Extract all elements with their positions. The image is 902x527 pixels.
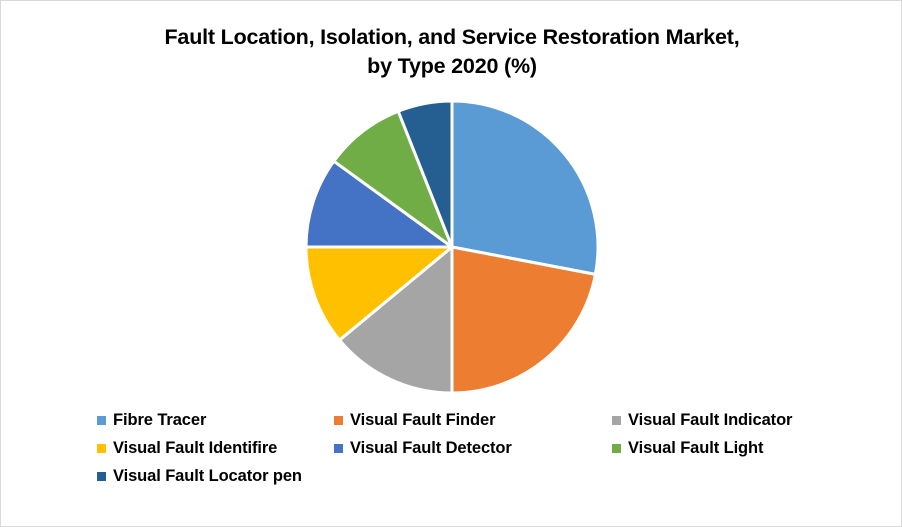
legend-item-label: Visual Fault Indicator [628,411,792,430]
legend-item-label: Visual Fault Detector [350,439,512,458]
legend-item-visual-fault-finder[interactable]: Visual Fault Finder [334,411,612,430]
legend-item-label: Visual Fault Locator pen [113,467,302,486]
legend-row: Fibre Tracer Visual Fault Finder Visual … [97,411,857,430]
pie-chart-graphic [302,97,602,397]
legend-item-label: Visual Fault Light [628,439,763,458]
legend-swatch-icon [612,444,621,453]
chart-title-line-1: Fault Location, Isolation, and Service R… [61,23,843,52]
legend-item-visual-fault-identifire[interactable]: Visual Fault Identifire [97,439,334,458]
legend-item-label: Fibre Tracer [113,411,206,430]
legend-swatch-icon [97,444,106,453]
legend-item-label: Visual Fault Finder [350,411,495,430]
legend-swatch-icon [97,472,106,481]
legend-item-visual-fault-indicator[interactable]: Visual Fault Indicator [612,411,857,430]
legend-item-fibre-tracer[interactable]: Fibre Tracer [97,411,334,430]
legend-swatch-icon [612,416,621,425]
chart-title-line-2: by Type 2020 (%) [61,52,843,81]
legend-item-visual-fault-locator-pen[interactable]: Visual Fault Locator pen [97,467,334,486]
legend-swatch-icon [97,416,106,425]
legend-swatch-icon [334,444,343,453]
chart-title: Fault Location, Isolation, and Service R… [61,23,843,81]
pie-slice[interactable] [452,101,598,274]
legend-row: Visual Fault Locator pen [97,467,857,486]
pie-plot-area [1,97,902,397]
pie-chart-card: Fault Location, Isolation, and Service R… [0,0,902,527]
legend-item-label: Visual Fault Identifire [113,439,277,458]
legend-item-visual-fault-light[interactable]: Visual Fault Light [612,439,857,458]
legend-row: Visual Fault Identifire Visual Fault Det… [97,439,857,458]
chart-legend: Fibre Tracer Visual Fault Finder Visual … [97,411,857,495]
legend-item-visual-fault-detector[interactable]: Visual Fault Detector [334,439,612,458]
pie-slice[interactable] [452,247,595,393]
legend-swatch-icon [334,416,343,425]
